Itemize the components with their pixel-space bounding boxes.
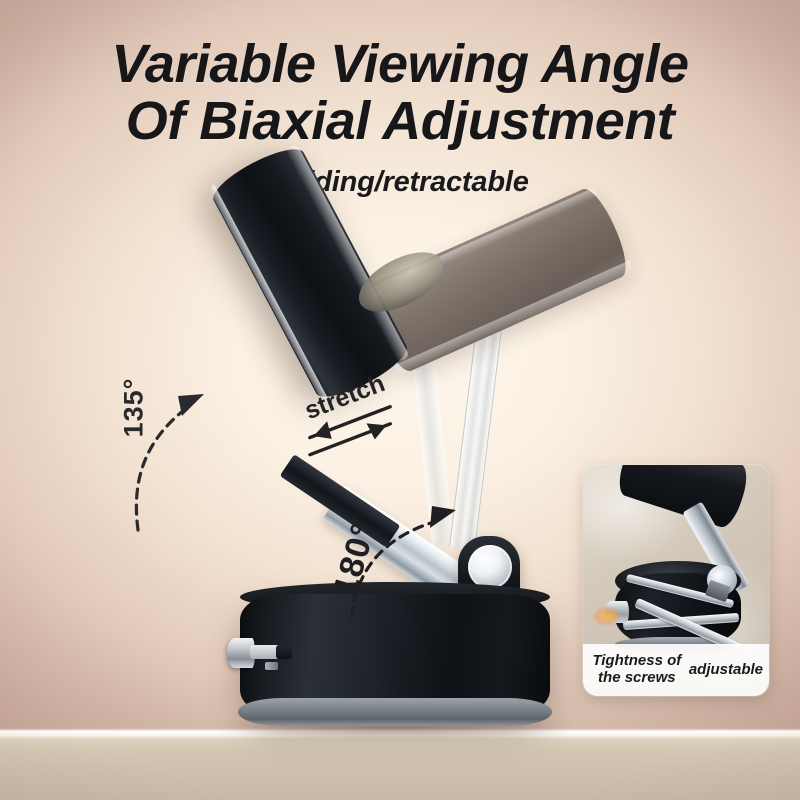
inset-caption-line-1: Tightness of the screws bbox=[589, 653, 685, 687]
inset-caption: Tightness of the screws adjustable bbox=[583, 644, 769, 696]
knob-slot bbox=[276, 645, 292, 659]
product-marketing-image: Variable Viewing Angle Of Biaxial Adjust… bbox=[0, 0, 800, 800]
inset-caption-line-2: adjustable bbox=[689, 662, 763, 679]
base-rim bbox=[238, 698, 552, 726]
angle-135-label: 135° bbox=[118, 378, 149, 438]
detail-inset-panel: Tightness of the screws adjustable bbox=[583, 465, 769, 696]
inset-lens-flare bbox=[593, 607, 619, 625]
base-indicator-mark bbox=[265, 662, 278, 670]
